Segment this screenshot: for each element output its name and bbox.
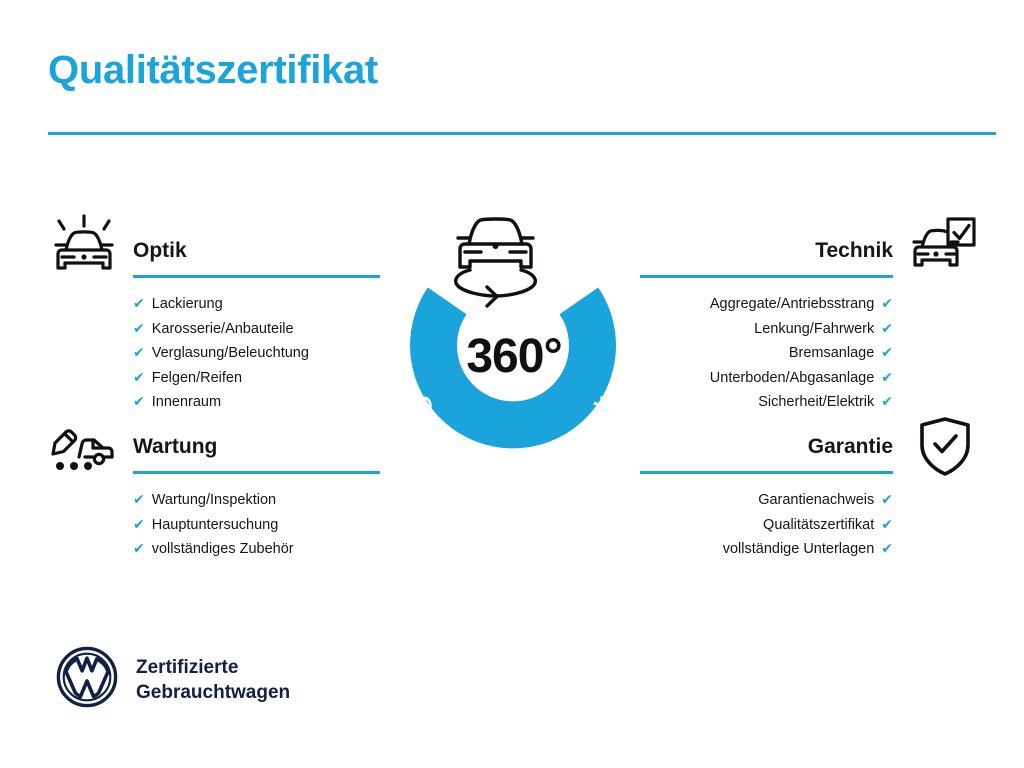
- check-icon: ✔: [133, 537, 145, 561]
- check-icon: ✔: [133, 488, 145, 512]
- check-icon: ✔: [133, 513, 145, 537]
- section-header: Garantie: [640, 434, 893, 474]
- section-divider: [640, 471, 893, 474]
- check-icon: ✔: [881, 317, 893, 341]
- footer-brand-text: Zertifizierte Gebrauchtwagen: [136, 655, 290, 705]
- section-title-garantie: Garantie: [640, 434, 893, 460]
- list-item: ✔vollständiges Zubehör: [133, 537, 380, 562]
- check-icon: ✔: [881, 366, 893, 390]
- list-item: ✔Wartung/Inspektion: [133, 488, 380, 513]
- list-item-label: Verglasung/Beleuchtung: [152, 342, 309, 366]
- list-item: ✔Innenraum: [133, 390, 380, 415]
- checklist-garantie: Garantienachweis✔ Qualitätszertifikat✔ v…: [640, 488, 893, 562]
- section-wartung: Wartung ✔Wartung/Inspektion ✔Hauptunters…: [133, 434, 380, 562]
- check-icon: ✔: [133, 317, 145, 341]
- certificate-page: Qualitätszertifikat: [0, 0, 1024, 768]
- list-item: ✔Hauptuntersuchung: [133, 513, 380, 538]
- check-icon: ✔: [881, 341, 893, 365]
- list-item-label: Garantienachweis: [758, 489, 874, 513]
- section-title-technik: Technik: [640, 238, 893, 264]
- list-item: Sicherheit/Elektrik✔: [640, 390, 893, 415]
- checklist-optik: ✔Lackierung ✔Karosserie/Anbauteile ✔Verg…: [133, 292, 380, 415]
- list-item-label: Hauptuntersuchung: [152, 514, 279, 538]
- car-checkbox-icon: [912, 212, 978, 283]
- car-rotate-360-icon: [456, 219, 536, 306]
- checklist-wartung: ✔Wartung/Inspektion ✔Hauptuntersuchung ✔…: [133, 488, 380, 562]
- section-title-optik: Optik: [133, 238, 380, 264]
- title-divider: [48, 132, 996, 135]
- check-icon: ✔: [133, 341, 145, 365]
- list-item-label: Aggregate/Antriebsstrang: [710, 293, 874, 317]
- list-item-label: Sicherheit/Elektrik: [758, 391, 874, 415]
- list-item: Aggregate/Antriebsstrang✔: [640, 292, 893, 317]
- section-divider: [640, 275, 893, 278]
- list-item-label: vollständige Unterlagen: [723, 538, 875, 562]
- check-icon: ✔: [133, 292, 145, 316]
- section-header: Wartung: [133, 434, 380, 474]
- page-title: Qualitätszertifikat: [48, 48, 378, 92]
- list-item-label: Innenraum: [152, 391, 221, 415]
- list-item-label: vollständiges Zubehör: [152, 538, 294, 562]
- list-item: Garantienachweis✔: [640, 488, 893, 513]
- check-icon: ✔: [881, 513, 893, 537]
- check-icon: ✔: [881, 488, 893, 512]
- section-divider: [133, 275, 380, 278]
- list-item: vollständige Unterlagen✔: [640, 537, 893, 562]
- list-item: ✔Lackierung: [133, 292, 380, 317]
- section-title-wartung: Wartung: [133, 434, 380, 460]
- shield-check-icon: [916, 414, 974, 483]
- pen-car-service-icon: [46, 414, 122, 485]
- section-header: Technik: [640, 238, 893, 278]
- section-garantie: Garantie Garantienachweis✔ Qualitätszert…: [640, 434, 893, 562]
- check-icon: ✔: [133, 390, 145, 414]
- list-item-label: Wartung/Inspektion: [152, 489, 276, 513]
- list-item: Qualitätszertifikat✔: [640, 513, 893, 538]
- list-item-label: Unterboden/Abgasanlage: [710, 367, 874, 391]
- list-item: Bremsanlage✔: [640, 341, 893, 366]
- section-divider: [133, 471, 380, 474]
- footer-brand-lockup: Zertifizierte Gebrauchtwagen: [56, 646, 290, 713]
- section-optik: Optik ✔Lackierung ✔Karosserie/Anbauteile…: [133, 238, 380, 415]
- check-icon: ✔: [133, 366, 145, 390]
- list-item: ✔Felgen/Reifen: [133, 366, 380, 391]
- check-icon: ✔: [881, 537, 893, 561]
- list-item: ✔Karosserie/Anbauteile: [133, 317, 380, 342]
- badge-360-gebrauchtwagen-check: Gebrauchtwagen-Check: [378, 192, 648, 482]
- list-item: Lenkung/Fahrwerk✔: [640, 317, 893, 342]
- list-item-label: Felgen/Reifen: [152, 367, 242, 391]
- checklist-technik: Aggregate/Antriebsstrang✔ Lenkung/Fahrwe…: [640, 292, 893, 415]
- car-shine-icon: [46, 212, 122, 283]
- list-item-label: Bremsanlage: [789, 342, 874, 366]
- volkswagen-logo: [56, 646, 118, 713]
- list-item-label: Lackierung: [152, 293, 223, 317]
- list-item: Unterboden/Abgasanlage✔: [640, 366, 893, 391]
- list-item-label: Lenkung/Fahrwerk: [754, 318, 874, 342]
- section-header: Optik: [133, 238, 380, 278]
- check-icon: ✔: [881, 390, 893, 414]
- list-item: ✔Verglasung/Beleuchtung: [133, 341, 380, 366]
- section-technik: Technik Aggregate/Antriebsstrang✔ Lenkun…: [640, 238, 893, 415]
- list-item-label: Karosserie/Anbauteile: [152, 318, 294, 342]
- list-item-label: Qualitätszertifikat: [763, 514, 874, 538]
- check-icon: ✔: [881, 292, 893, 316]
